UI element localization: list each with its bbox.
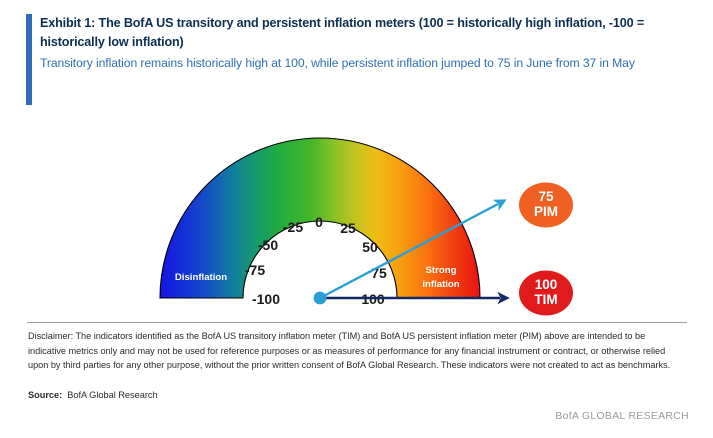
badge-pim-name: PIM <box>534 204 558 219</box>
exhibit-header: Exhibit 1: The BofA US transitory and pe… <box>0 0 713 112</box>
badge-tim: 100 TIM <box>519 271 573 316</box>
source-value: BofA Global Research <box>67 390 157 400</box>
gauge-zone-label-strong-line1: Strong <box>426 265 457 276</box>
badge-pim: 75 PIM <box>519 183 573 228</box>
page-title: Exhibit 1: The BofA US transitory and pe… <box>40 14 702 51</box>
exhibit-footer: Disclaimer: The indicators identified as… <box>0 322 713 438</box>
badge-pim-value: 75 <box>538 189 554 204</box>
gauge-chart: Disinflation Strong inflation -100 -75 -… <box>0 108 713 323</box>
source-label: Source: <box>28 390 62 400</box>
gauge-pivot-dot <box>314 292 327 305</box>
gauge-tick-label-50: 50 <box>362 239 378 255</box>
gauge-tick-label--50: -50 <box>258 237 278 253</box>
badge-tim-value: 100 <box>535 277 558 292</box>
gauge-tick-label--25: -25 <box>283 219 303 235</box>
gauge-tick-label-25: 25 <box>340 220 356 236</box>
gauge-tick-label-0: 0 <box>315 214 323 230</box>
gauge-zone-label-strong-line2: inflation <box>422 279 459 290</box>
source-line: Source:BofA Global Research <box>28 388 158 403</box>
badge-tim-name: TIM <box>534 292 557 307</box>
gauge-zone-label-disinflation: Disinflation <box>175 272 227 283</box>
gauge-tick-label--75: -75 <box>245 262 265 278</box>
disclaimer-text: Disclaimer: The indicators identified as… <box>28 329 684 373</box>
bofa-watermark: BofA GLOBAL RESEARCH <box>555 411 689 422</box>
gauge-chart-area: Disinflation Strong inflation -100 -75 -… <box>0 108 713 323</box>
header-text-group: Exhibit 1: The BofA US transitory and pe… <box>40 14 702 73</box>
footer-divider <box>27 322 687 323</box>
gauge-tick-label--100: -100 <box>252 291 280 307</box>
header-accent-bar <box>26 14 32 105</box>
exhibit-page: Exhibit 1: The BofA US transitory and pe… <box>0 0 713 438</box>
page-subtitle: Transitory inflation remains historicall… <box>40 54 702 73</box>
